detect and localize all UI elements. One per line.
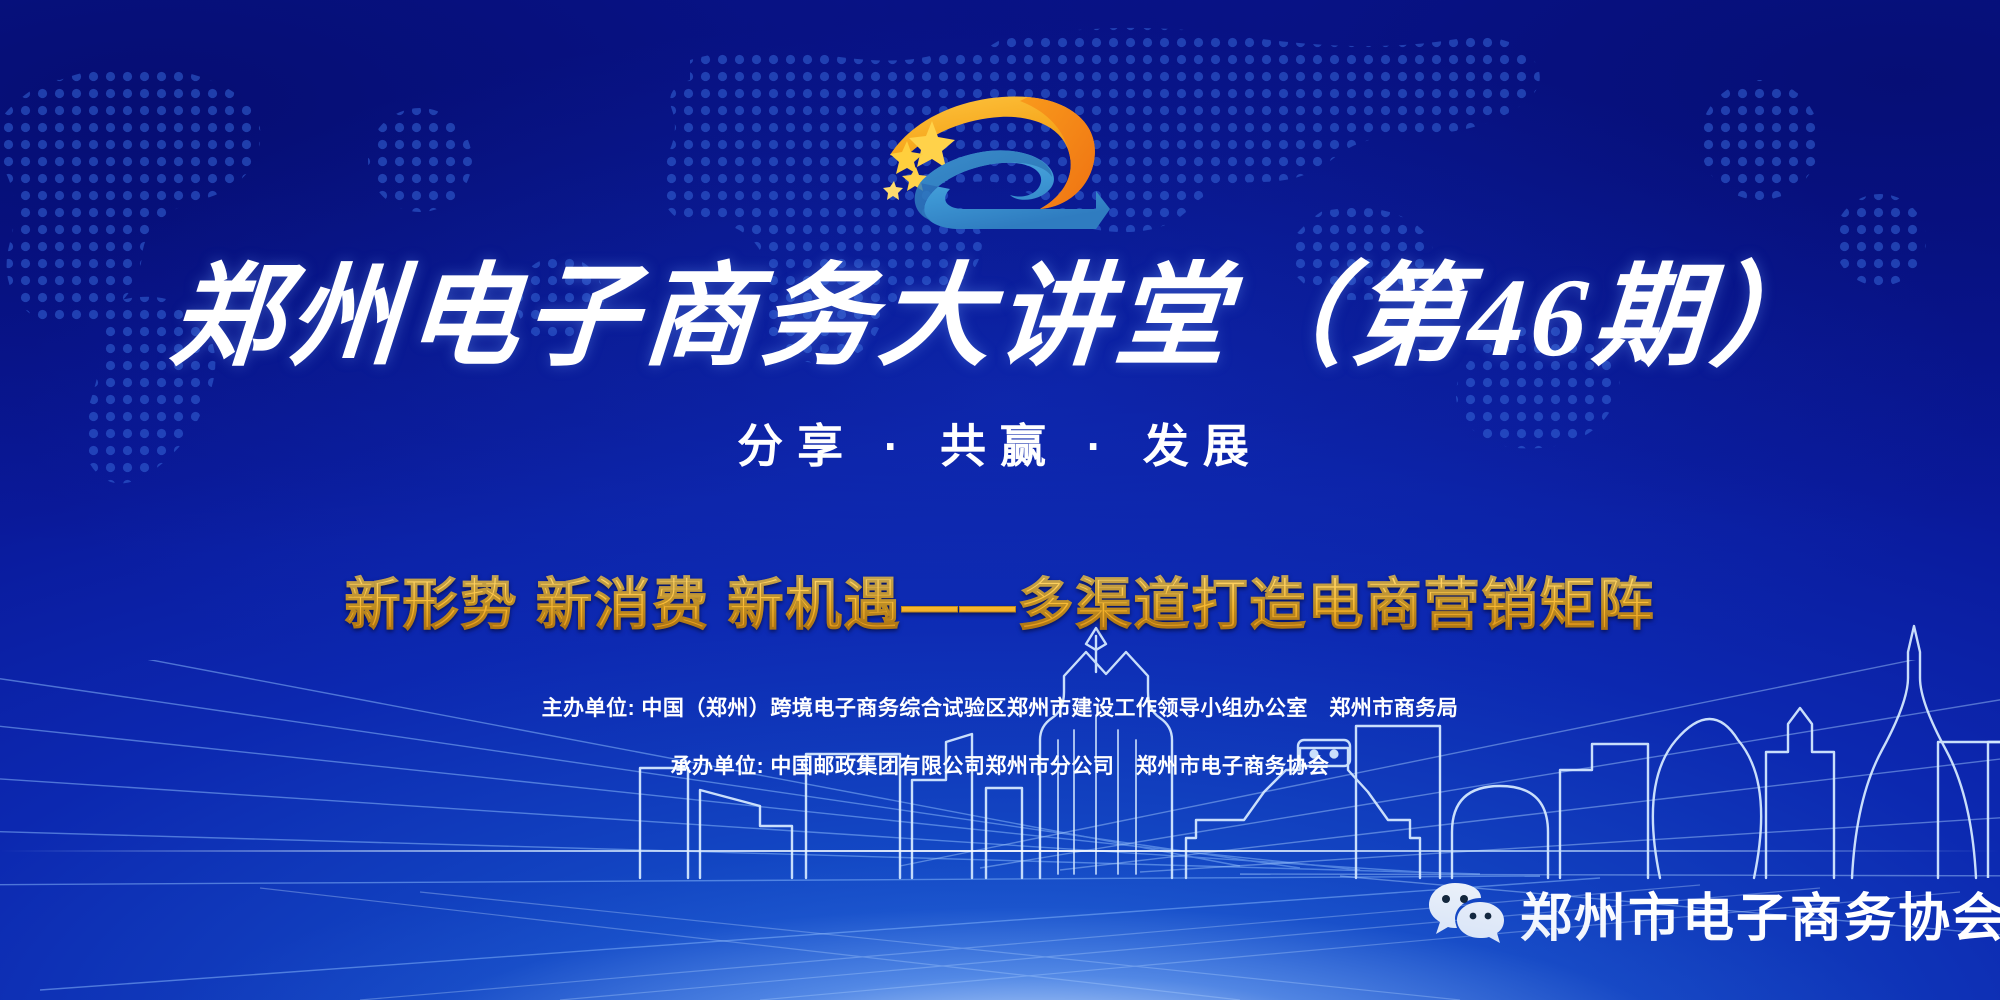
wechat-account-badge[interactable]: 郑州市电子商务协会 — [1428, 876, 2000, 951]
event-poster: 郑州电子商务大讲堂（第46期） 分享 · 共赢 · 发展 新形势 新消费 新机遇… — [0, 0, 2000, 1000]
wechat-icon — [1428, 880, 1504, 948]
cross-border-ecommerce-logo — [860, 85, 1120, 230]
page-title: 郑州电子商务大讲堂（第46期） — [0, 262, 2000, 374]
co-organizer-line: 承办单位: 中国邮政集团有限公司郑州市分公司 郑州市电子商务协会 — [0, 750, 2000, 780]
organizer-block: 主办单位: 中国（郑州）跨境电子商务综合试验区郑州市建设工作领导小组办公室 郑州… — [0, 692, 2000, 808]
wechat-account-name: 郑州市电子商务协会 — [1520, 876, 2000, 951]
host-organization-line: 主办单位: 中国（郑州）跨境电子商务综合试验区郑州市建设工作领导小组办公室 郑州… — [0, 692, 2000, 722]
headline-topic: 新形势 新消费 新机遇——多渠道打造电商营销矩阵 — [0, 560, 2000, 641]
horizon-line — [0, 850, 2000, 852]
subtitle: 分享 · 共赢 · 发展 — [0, 410, 2000, 476]
